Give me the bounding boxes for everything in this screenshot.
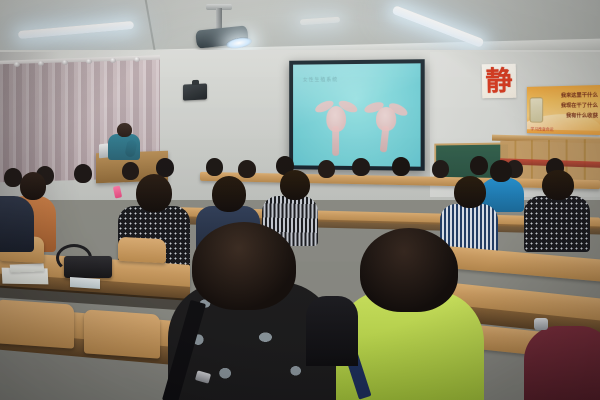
attendee-head	[318, 160, 335, 178]
screen-surface: 女性生殖系统	[293, 63, 421, 166]
quiet-character: 静	[485, 67, 512, 94]
attendee-stripe-bw-head	[280, 170, 310, 200]
curtain-grommet	[38, 61, 44, 66]
curtain-grommet	[134, 57, 140, 62]
attendee-orange-head	[20, 172, 46, 200]
classroom-photo: 女性生殖系统 静 我来这里干什么 我现在干了什么 我有什	[0, 0, 600, 400]
attendee-head	[392, 157, 410, 176]
curtain-grommet	[62, 60, 68, 65]
curtain-grommet	[14, 62, 20, 67]
projector-mount-pole	[216, 8, 222, 30]
attendee-dark-left-torso	[0, 196, 34, 252]
seat-backrest	[84, 309, 160, 358]
seat-backrest	[118, 237, 166, 264]
banner-line-2: 我现在干了什么	[561, 101, 598, 109]
speaker-bracket	[192, 80, 199, 85]
papers-on-desk	[10, 263, 45, 272]
wall-speaker-icon	[183, 83, 207, 100]
attendee-dark-center-torso	[306, 296, 358, 366]
attendee-dotted-black-torso	[524, 196, 590, 252]
attendee-chartreuse-head	[360, 228, 458, 312]
attendee-navy-head	[212, 176, 246, 212]
attendee-head	[352, 158, 370, 176]
curtain-grommet	[110, 58, 116, 63]
curtain-grommet	[86, 59, 92, 64]
attendee-stripe-blue-head	[454, 176, 486, 208]
attendee-head	[432, 160, 449, 178]
attendee-head	[206, 158, 223, 176]
banner-seal-decoration	[530, 97, 544, 122]
handbag	[64, 256, 112, 278]
banner-line-3: 我有什么收获	[566, 111, 598, 119]
attendee-teal-head	[490, 160, 512, 182]
attendee-head	[470, 156, 488, 175]
wall-banner: 我来这里干什么 我现在干了什么 我有什么收获 学习改变命运	[527, 85, 600, 135]
banner-footer: 学习改变命运	[530, 126, 553, 132]
projection-screen: 女性生殖系统	[289, 59, 425, 171]
quiet-sign-poster: 静	[482, 64, 517, 99]
attendee-maroon-torso	[524, 326, 600, 400]
attendee-dotted-black-head	[542, 170, 574, 200]
attendee-blue-pattern-head	[136, 174, 172, 212]
watch	[534, 318, 548, 330]
attendee-head	[122, 162, 139, 180]
booklet-on-desk	[70, 277, 100, 289]
attendee-giraffe-print-head	[192, 222, 296, 310]
presenter-hair	[117, 123, 132, 137]
seat-backrest	[0, 299, 74, 348]
screen-glare	[293, 63, 421, 166]
attendee-head	[74, 164, 92, 183]
banner-line-1: 我来这里干什么	[561, 90, 598, 99]
attendee-head	[238, 160, 256, 178]
